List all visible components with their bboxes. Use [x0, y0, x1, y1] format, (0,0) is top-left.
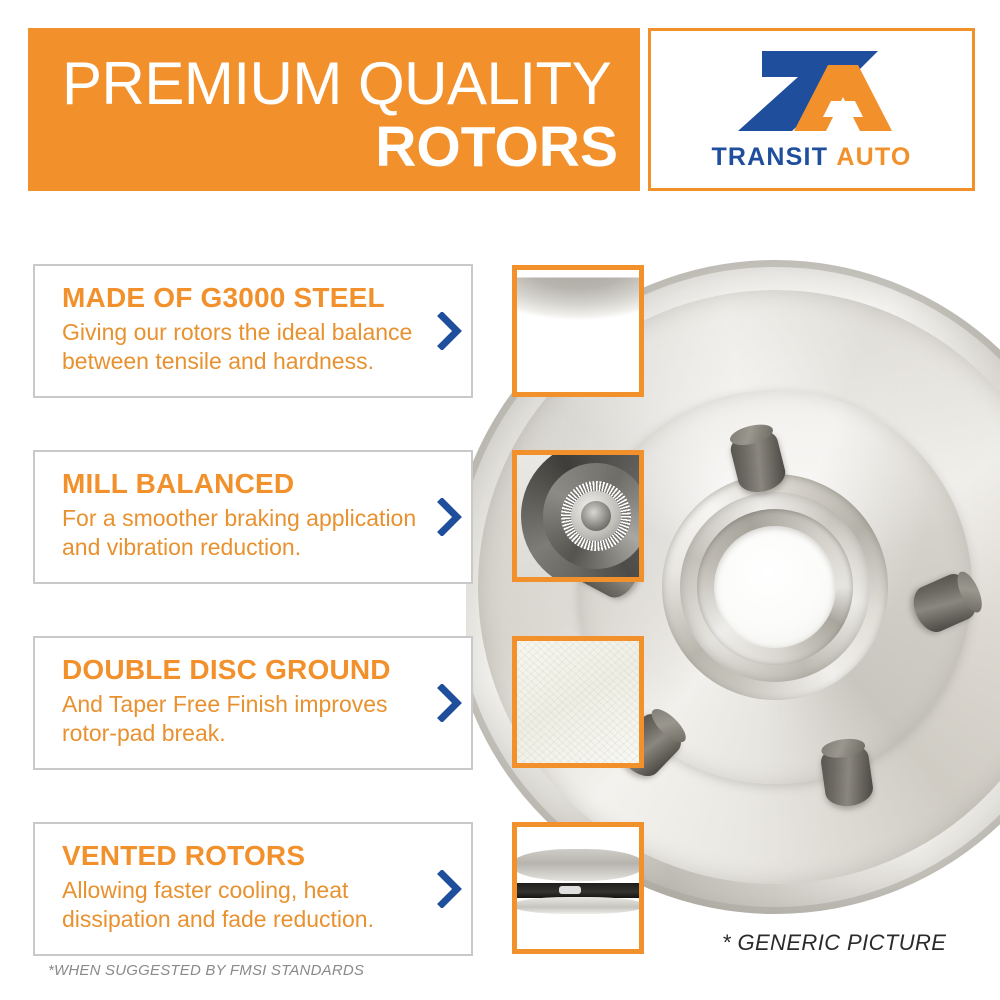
feature-title: DOUBLE DISC GROUND [62, 654, 413, 686]
wheel-stud [819, 741, 875, 809]
feature-thumbnail-vented-edge [512, 822, 644, 954]
chevron-right-icon [437, 870, 463, 908]
hub-outer-lip [662, 474, 888, 700]
generic-picture-caption: * GENERIC PICTURE [722, 930, 946, 956]
feature-title: VENTED ROTORS [62, 840, 413, 872]
wheel-stud [727, 425, 789, 497]
feature-card-made-of-g3000-steel[interactable]: MADE OF G3000 STEEL Giving our rotors th… [33, 264, 473, 398]
feature-description: Allowing faster cooling, heat dissipatio… [62, 876, 421, 934]
feature-description: For a smoother braking application and v… [62, 504, 421, 562]
feature-thumbnail-abs-tone-ring [512, 450, 644, 582]
bearing-race [697, 509, 853, 665]
wheel-stud [907, 568, 983, 637]
brand-wordmark: TRANSIT AUTO [651, 143, 972, 172]
fmsi-footnote: *WHEN SUGGESTED BY FMSI STANDARDS [48, 962, 364, 979]
ground-surface-closeup-image [517, 641, 639, 763]
vented-edge-closeup-image [517, 827, 639, 949]
tone-ring-bore [581, 501, 611, 531]
rotor-edge-closeup-image [517, 270, 639, 392]
feature-description: Giving our rotors the ideal balance betw… [62, 318, 421, 376]
feature-description: And Taper Free Finish improves rotor-pad… [62, 690, 421, 748]
wordmark-transit: TRANSIT [711, 143, 828, 171]
feature-card-vented-rotors[interactable]: VENTED ROTORS Allowing faster cooling, h… [33, 822, 473, 956]
wordmark-auto: AUTO [836, 143, 911, 171]
header-banner: PREMIUM QUALITY ROTORS [28, 28, 640, 191]
vent-cooling-gap [512, 883, 644, 898]
feature-card-double-disc-ground[interactable]: DOUBLE DISC GROUND And Taper Free Finish… [33, 636, 473, 770]
hub-inner-lip [680, 492, 870, 682]
chevron-right-icon [437, 498, 463, 536]
vent-upper-disc [512, 849, 644, 881]
hub-center-bore [714, 526, 836, 648]
feature-title: MILL BALANCED [62, 468, 413, 500]
brand-logo-box: TRANSIT AUTO [648, 28, 975, 191]
feature-thumbnail-ground-surface [512, 636, 644, 768]
infographic-canvas: PREMIUM QUALITY ROTORS TRANSIT AUTO MADE… [0, 0, 1000, 1000]
feature-thumbnail-rotor-edge [512, 265, 644, 397]
abs-tone-ring-closeup-image [517, 455, 639, 577]
banner-title-line1: PREMIUM QUALITY [62, 52, 622, 116]
feature-card-mill-balanced[interactable]: MILL BALANCED For a smoother braking app… [33, 450, 473, 584]
vent-lower-disc [512, 897, 644, 914]
chevron-right-icon [437, 684, 463, 722]
feature-title: MADE OF G3000 STEEL [62, 282, 413, 314]
chevron-right-icon [437, 312, 463, 350]
banner-title-line2: ROTORS [62, 116, 618, 178]
ta-monogram-icon [732, 45, 892, 141]
